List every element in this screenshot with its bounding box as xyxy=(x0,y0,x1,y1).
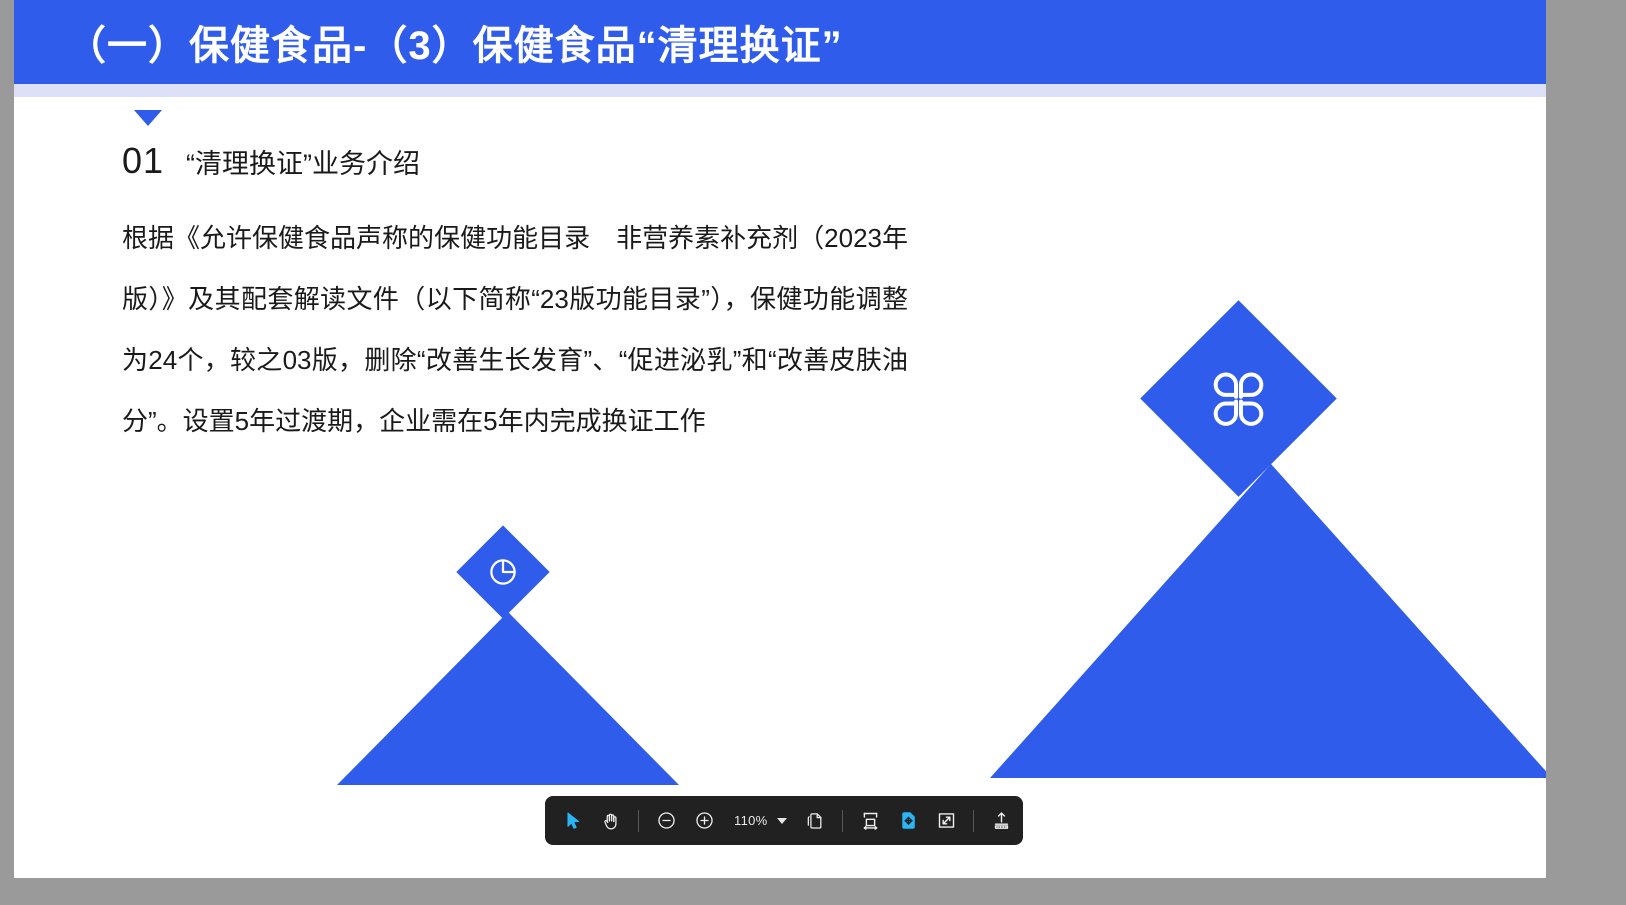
section-header: 01 “清理换证”业务介绍 xyxy=(122,140,912,182)
fullscreen-button[interactable] xyxy=(928,803,964,839)
body-paragraph: 根据《允许保健食品声称的保健功能目录 非营养素补充剂（2023年版）》及其配套解… xyxy=(122,208,908,452)
zoom-out-button[interactable] xyxy=(648,803,684,839)
title-underline-strip xyxy=(14,84,1546,97)
fit-page-button[interactable] xyxy=(890,803,926,839)
slide-title-bar: （一）保健食品-（3）保健食品“清理换证” xyxy=(14,0,1546,84)
triangle-down-marker-icon xyxy=(134,110,162,126)
right-gutter xyxy=(1546,0,1626,905)
toolbar-separator xyxy=(973,810,974,832)
plus-circle-icon xyxy=(694,810,715,831)
toolbar-separator xyxy=(638,810,639,832)
expand-arrows-icon xyxy=(936,810,957,831)
toolbar-separator xyxy=(842,810,843,832)
copy-pages-icon xyxy=(805,811,825,831)
document-page: （一）保健食品-（3）保健食品“清理换证” 01 “清理换证”业务介绍 根据《允… xyxy=(14,0,1546,878)
small-pyramid-shape xyxy=(337,612,679,785)
small-pyramid-badge xyxy=(456,525,549,618)
export-button[interactable] xyxy=(983,803,1019,839)
zoom-level-value: 110% xyxy=(734,813,767,828)
application-window: （一）保健食品-（3）保健食品“清理换证” 01 “清理换证”业务介绍 根据《允… xyxy=(0,0,1626,905)
pie-chart-icon xyxy=(486,555,520,589)
minus-circle-icon xyxy=(656,810,677,831)
hand-icon xyxy=(601,811,621,831)
fit-width-button[interactable] xyxy=(852,803,888,839)
section-number: 01 xyxy=(122,140,164,182)
upload-export-icon xyxy=(991,810,1012,831)
fit-page-icon xyxy=(898,810,919,831)
zoom-in-button[interactable] xyxy=(686,803,722,839)
left-gutter xyxy=(0,0,14,905)
page-copy-button[interactable] xyxy=(797,803,833,839)
large-pyramid-shape xyxy=(990,464,1546,778)
select-tool-button[interactable] xyxy=(555,803,591,839)
slide-content: 01 “清理换证”业务介绍 根据《允许保健食品声称的保健功能目录 非营养素补充剂… xyxy=(122,110,912,452)
fit-width-icon xyxy=(860,810,881,831)
chevron-down-icon xyxy=(777,818,787,824)
cursor-arrow-icon xyxy=(564,811,583,830)
section-heading: “清理换证”业务介绍 xyxy=(186,142,420,181)
page-title: （一）保健食品-（3）保健食品“清理换证” xyxy=(66,13,843,71)
zoom-level-selector[interactable]: 110% xyxy=(724,806,795,836)
clover-four-petal-icon xyxy=(1202,362,1276,436)
viewer-toolbar[interactable]: 110% xyxy=(545,796,1023,845)
pan-tool-button[interactable] xyxy=(593,803,629,839)
